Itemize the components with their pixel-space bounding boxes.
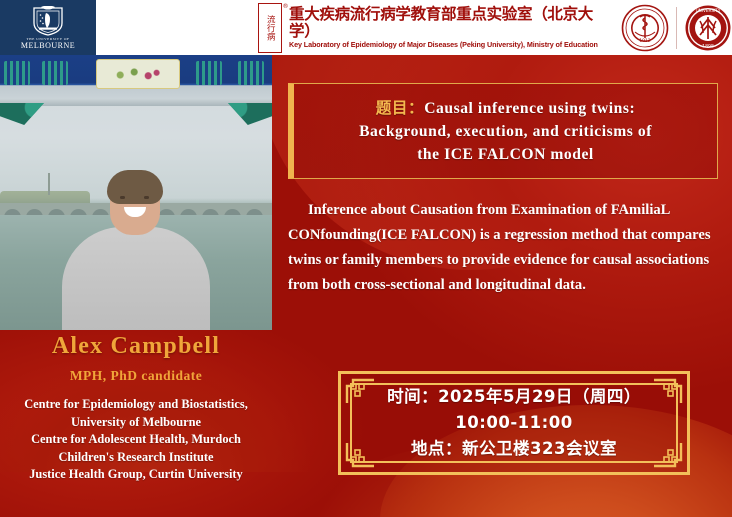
background-glow-right (332, 0, 732, 390)
speaker-photo (0, 55, 272, 330)
seal-divider (676, 7, 677, 49)
ornament-corner-bottom-left-icon (345, 442, 375, 468)
svg-text:1912: 1912 (639, 38, 651, 44)
photo-person-hair (107, 170, 163, 204)
event-time-line1: 时间：2025年5月29日（周四） (387, 384, 641, 410)
photo-painted-panel (96, 59, 180, 89)
title-label-cn: 题目 (376, 99, 408, 117)
seminar-poster: THE UNIVERSITY OF MELBOURNE 流行病 ® 重大疾病流行… (0, 0, 732, 517)
university-of-melbourne-logo: THE UNIVERSITY OF MELBOURNE (0, 0, 96, 55)
svg-text:1898: 1898 (702, 43, 714, 49)
melbourne-logo-line2: MELBOURNE (21, 41, 75, 50)
photo-pole (48, 173, 50, 195)
svg-text:UNIVERSITY: UNIVERSITY (696, 8, 721, 13)
title-separator: ： (408, 99, 424, 117)
talk-title: 题目：Causal inference using twins: Backgro… (351, 97, 660, 166)
time-venue-inner-frame: 时间：2025年5月29日（周四） 10:00-11:00 地点：新公卫楼323… (350, 383, 678, 463)
university-seals: 1912 UNIVERSITY 1898 (621, 4, 732, 52)
ornament-corner-bottom-right-icon (653, 442, 683, 468)
key-laboratory-logo: 流行病 ® 重大疾病流行病学教育部重点实验室（北京大学） Key Laborat… (258, 3, 609, 53)
speaker-role: MPH, PhD candidate (0, 368, 272, 384)
peking-university-health-science-center-seal: 1912 (621, 4, 669, 52)
ornament-corner-top-left-icon (345, 378, 375, 404)
event-venue: 地点：新公卫楼323会议室 (411, 436, 617, 462)
affiliation-line: Centre for Epidemiology and Biostatistic… (0, 396, 272, 414)
affiliation-line: Centre for Adolescent Health, Murdoch (0, 431, 272, 449)
title-line1: Causal inference using twins: (424, 100, 635, 117)
photo-person-eye-left (120, 196, 125, 199)
title-line2: Background, execution, and criticisms of (359, 123, 652, 140)
ornament-corner-top-right-icon (653, 378, 683, 404)
photo-person-eye-right (144, 196, 149, 199)
peking-university-seal: UNIVERSITY 1898 (684, 4, 732, 52)
affiliation-line: University of Melbourne (0, 414, 272, 432)
speaker-name: Alex Campbell (0, 333, 272, 360)
registered-mark: ® (281, 3, 290, 10)
talk-title-box: 题目：Causal inference using twins: Backgro… (288, 83, 718, 179)
talk-abstract: Inference about Causation from Examinati… (288, 198, 720, 298)
lab-seal-text: 流行病 (266, 15, 275, 41)
affiliation-line: Children's Research Institute (0, 449, 272, 467)
poster-header: THE UNIVERSITY OF MELBOURNE 流行病 ® 重大疾病流行… (0, 0, 732, 55)
title-line3: the ICE FALCON model (417, 146, 594, 163)
event-time-line2: 10:00-11:00 (455, 410, 572, 436)
melbourne-crest-icon (31, 6, 65, 36)
lab-title-en: Key Laboratory of Epidemiology of Major … (289, 40, 609, 49)
lab-seal-icon: 流行病 ® (258, 3, 282, 53)
speaker-affiliations: Centre for Epidemiology and Biostatistic… (0, 396, 272, 484)
lab-title-cn: 重大疾病流行病学教育部重点实验室（北京大学） (289, 6, 609, 40)
photo-pavilion-ceiling (0, 55, 272, 103)
time-venue-box: 时间：2025年5月29日（周四） 10:00-11:00 地点：新公卫楼323… (338, 371, 690, 475)
affiliation-line: Justice Health Group, Curtin University (0, 466, 272, 484)
photo-person-body (62, 227, 210, 330)
